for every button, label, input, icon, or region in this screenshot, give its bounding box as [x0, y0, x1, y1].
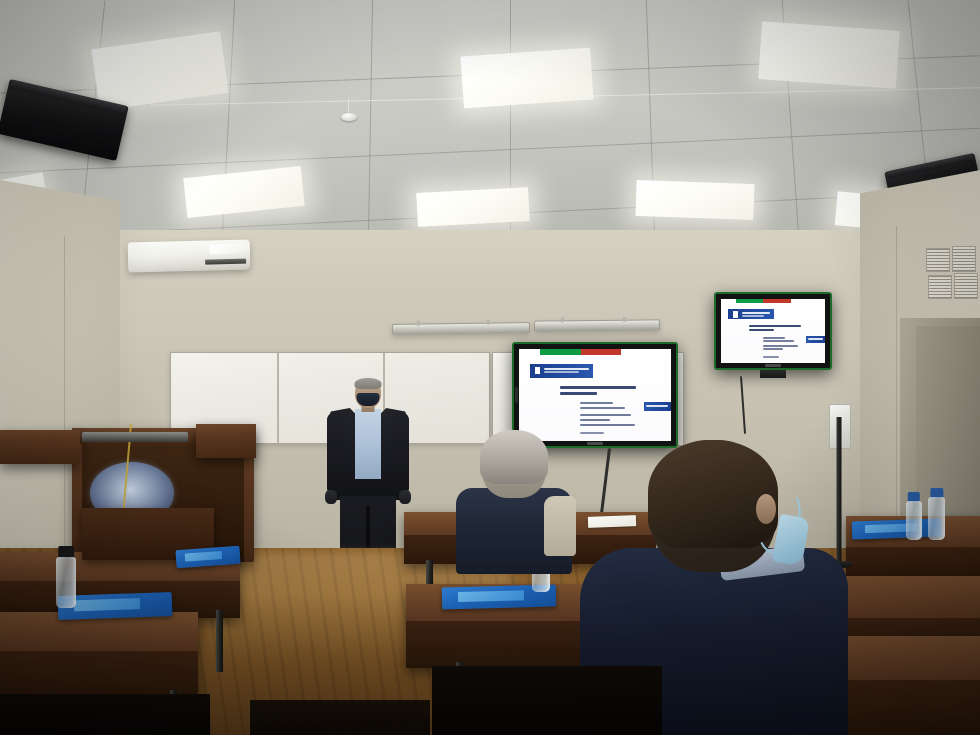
slide2-footer — [763, 356, 780, 358]
vent-grille-4 — [954, 273, 978, 299]
desk-left-front — [0, 612, 198, 700]
slide2-heading-1 — [749, 325, 801, 327]
slide2-body-2 — [763, 340, 794, 342]
desk-leg-2 — [216, 610, 223, 672]
whiteboard-divider-1 — [277, 353, 279, 443]
board-lamp-right — [534, 319, 660, 331]
slide2-heading-2 — [749, 329, 774, 331]
slide-flag-stripes-secondary — [736, 299, 791, 303]
secondary-screen-bracket — [760, 370, 786, 378]
foreground-shadow-left — [0, 694, 210, 735]
slide-body-line-5 — [580, 424, 635, 426]
presenter-left-hand — [325, 490, 337, 504]
vent-grille-1 — [926, 248, 950, 272]
lectern-side-shelf-right — [196, 424, 256, 458]
slide-body-line-1 — [580, 402, 613, 404]
slide-side-tab-secondary — [806, 336, 825, 342]
slide-flag-stripes — [540, 349, 621, 355]
vent-grille-2 — [952, 246, 976, 272]
lectern-equipment — [82, 432, 188, 442]
slide-heading-line-1 — [560, 386, 636, 389]
slide-banner — [530, 364, 594, 378]
lectern-side-shelf-left — [0, 430, 80, 464]
slide2-body-3 — [763, 345, 798, 347]
attendee-front-row-hair — [480, 430, 548, 484]
smoke-detector-icon — [341, 113, 357, 121]
air-conditioner — [128, 240, 251, 273]
main-screen-surface — [519, 349, 671, 441]
bottle-right-2[interactable] — [928, 488, 945, 540]
bottle-right-1[interactable] — [906, 492, 922, 540]
slide-heading-line-2 — [560, 392, 596, 395]
presenter-right-hand — [399, 490, 411, 504]
slide2-body-1 — [763, 337, 786, 339]
slide2-body-4 — [763, 348, 784, 350]
board-lamp-left — [392, 322, 530, 335]
bottle-left[interactable] — [56, 546, 76, 608]
light-panel-3 — [460, 48, 593, 109]
light-panel-1 — [91, 31, 228, 110]
foreground-shadow-center — [250, 700, 430, 735]
slide-body-line-3 — [580, 414, 632, 416]
institution-emblem-icon — [534, 366, 541, 375]
secondary-screen-surface — [721, 299, 825, 363]
presenter-face-mask — [357, 393, 380, 406]
presenter-hair — [355, 378, 382, 389]
monitor-power-button[interactable] — [515, 387, 518, 403]
presenter-shirt — [355, 409, 381, 479]
slide-body-line-2 — [580, 407, 626, 409]
light-panel-2 — [183, 166, 305, 218]
slide-body-line-4 — [580, 419, 610, 421]
institution-emblem-icon-secondary — [732, 310, 739, 319]
ceiling — [0, 0, 980, 238]
presentation-slide — [519, 349, 671, 441]
presentation-slide-duplicate — [721, 299, 825, 363]
wall-seam-right — [896, 226, 897, 526]
wall-seam-left — [64, 236, 65, 566]
light-panel-6 — [635, 180, 754, 220]
attendee-front-row — [452, 430, 576, 572]
light-panel-4 — [416, 187, 530, 227]
presenter-left-arm — [327, 412, 345, 496]
slide-side-tab — [644, 402, 671, 410]
slide-footer-line — [580, 432, 604, 434]
secondary-monitor-brand-logo — [765, 364, 781, 367]
foreground-shadow-right — [432, 666, 662, 735]
attendee-front-row-shirt-shoulder — [544, 496, 576, 556]
secondary-presentation-screen[interactable] — [714, 292, 832, 370]
slide-banner-secondary — [728, 309, 774, 319]
light-panel-5 — [758, 21, 900, 88]
lecture-hall-photo: A man in a dark suit and black face mask… — [0, 0, 980, 735]
vent-grille-3 — [928, 275, 952, 299]
presenter-right-arm — [391, 412, 409, 496]
